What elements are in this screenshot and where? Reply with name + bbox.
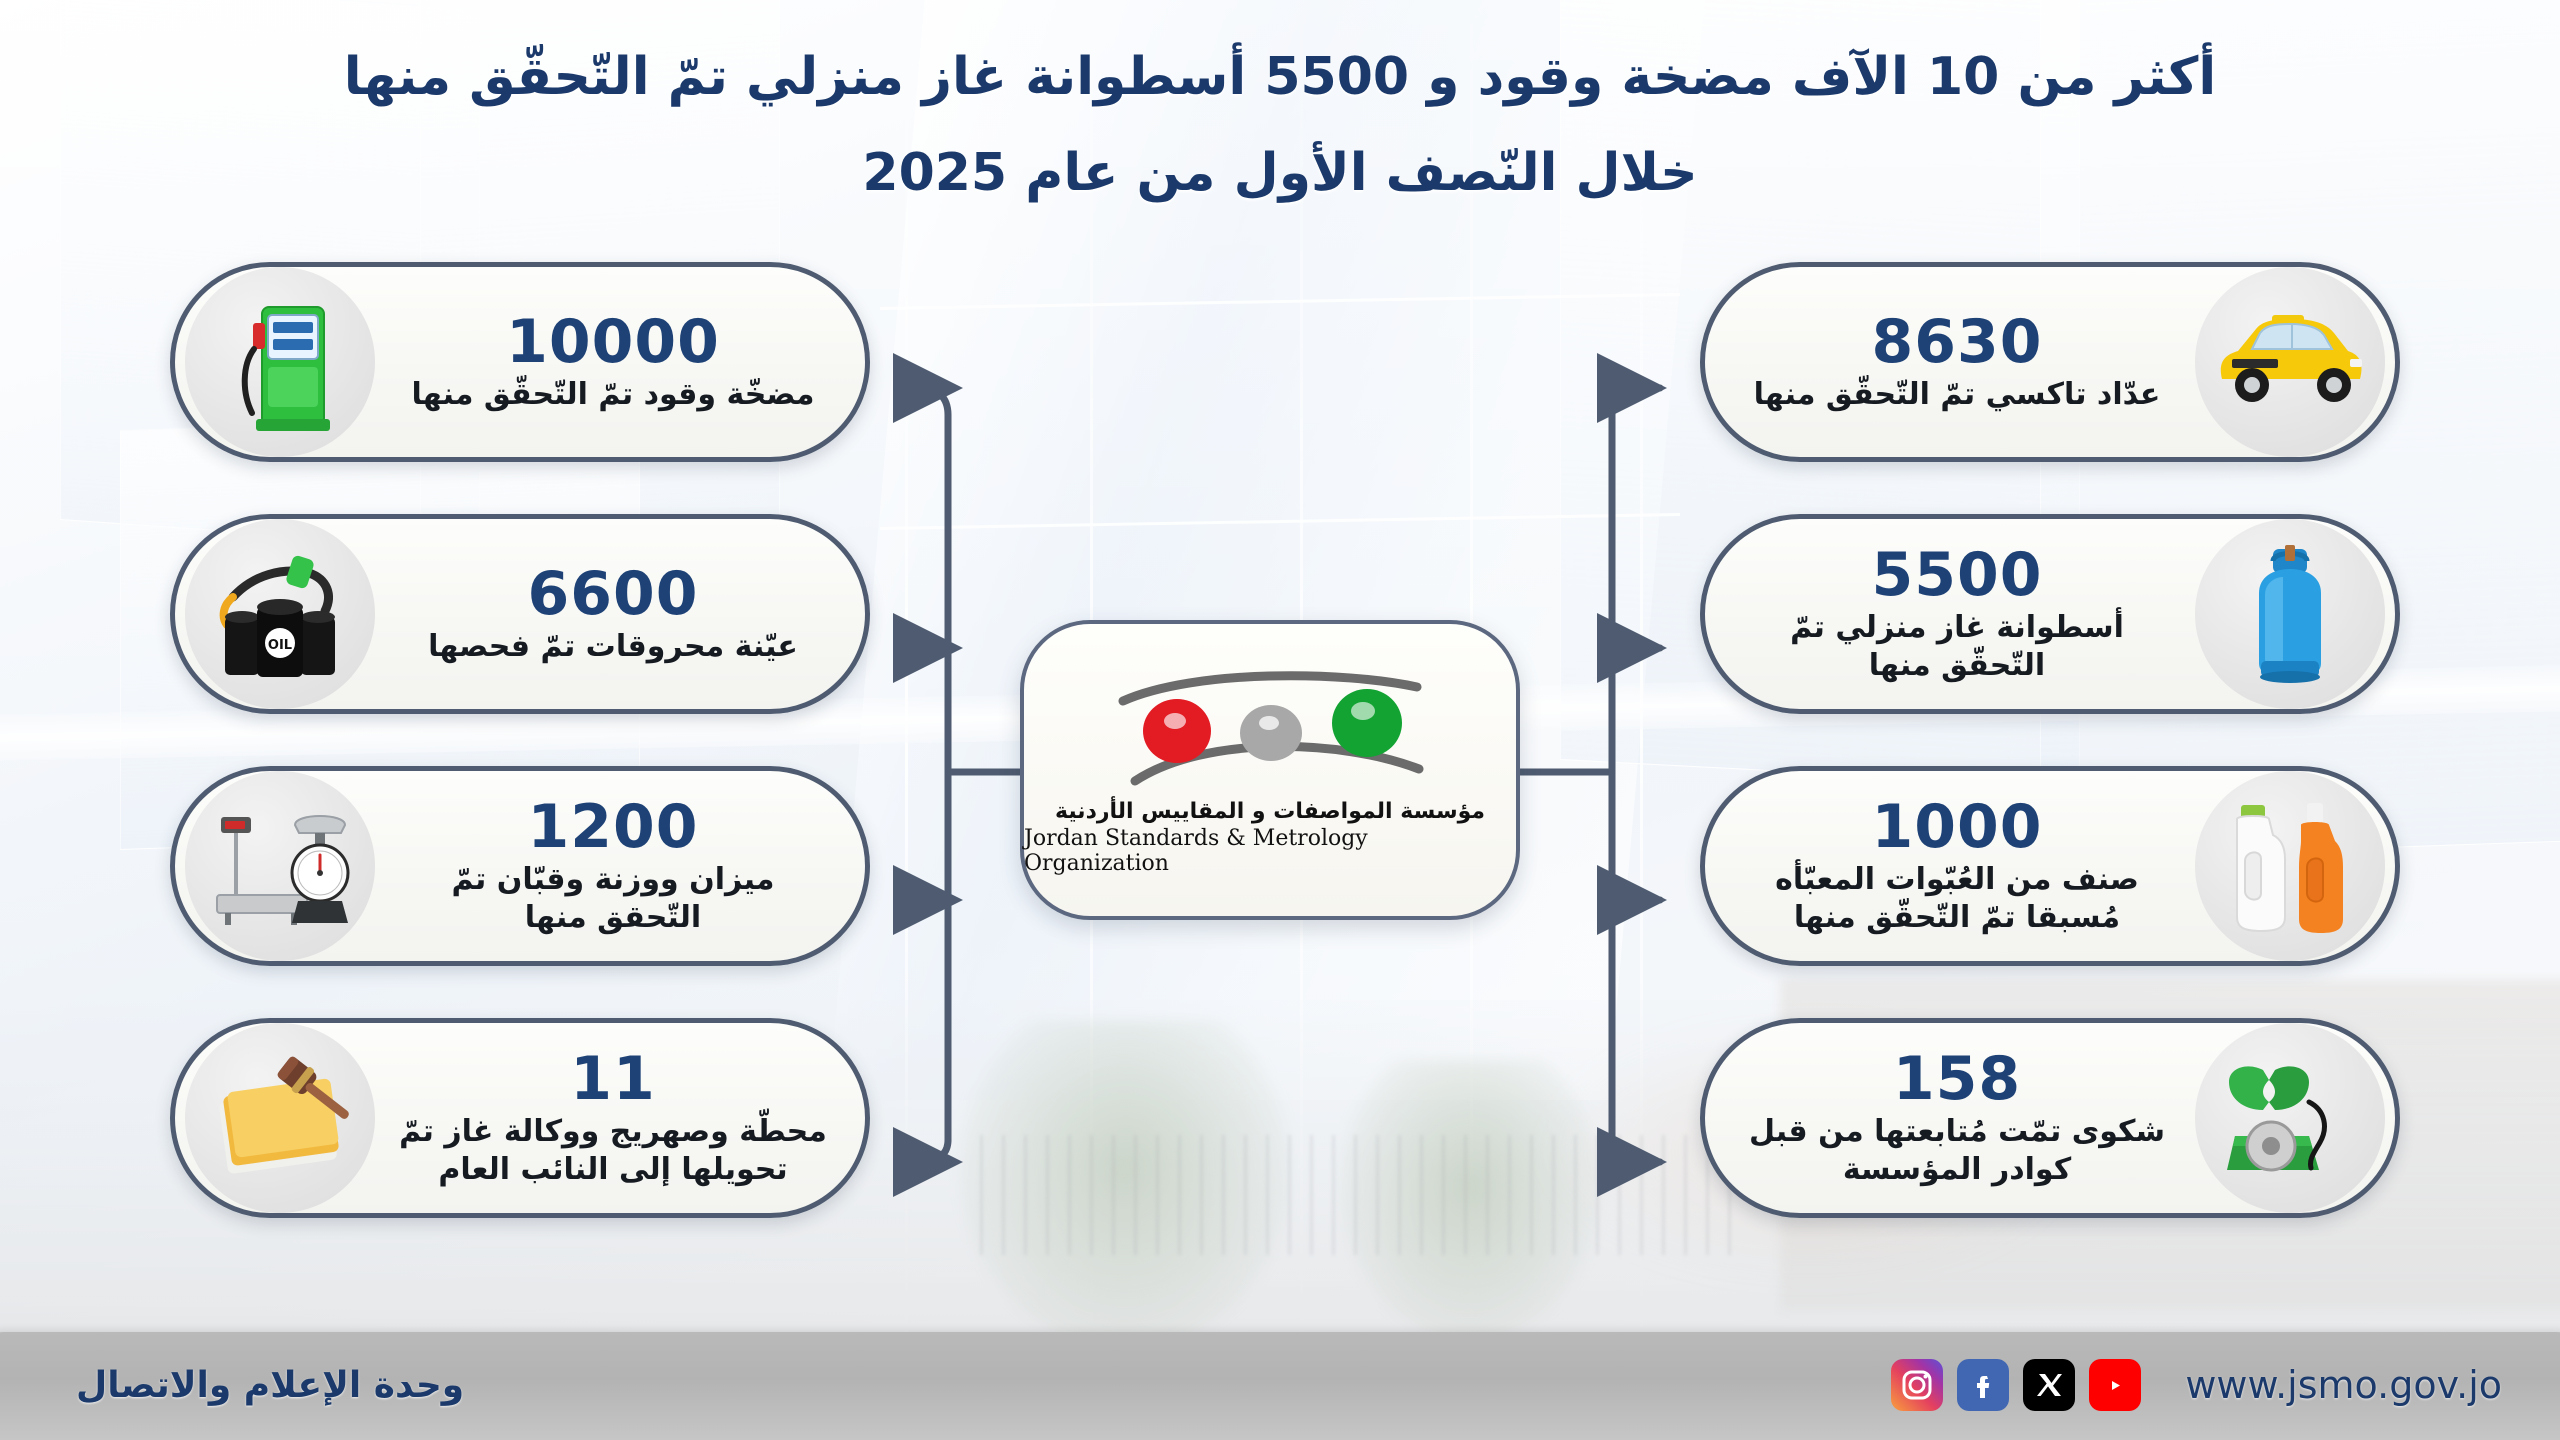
title-line-2: خلال النّصف الأول من عام 2025 (0, 140, 2560, 206)
stat-label: عدّاد تاكسي تمّ التّحقّق منها (1741, 376, 2173, 414)
stat-card-scales[interactable]: 1200 ميزان ووزنة وقبّان تمّ التّحقق منها (170, 766, 870, 966)
stat-label: محطّة وصهريج ووكالة غاز تمّ تحويلها إلى … (397, 1113, 829, 1189)
weighing-scale-icon (185, 771, 375, 961)
stat-card-complaints[interactable]: 158 شكوى تمّت مُتابعتها من قبل كوادر الم… (1700, 1018, 2400, 1218)
stat-number: 1000 (1741, 795, 2173, 859)
packaged-bottles-icon (2195, 771, 2385, 961)
stat-card-fuel-pumps[interactable]: 10000 مضخّة وقود تمّ التّحقّق منها (170, 262, 870, 462)
youtube-icon[interactable] (2089, 1359, 2141, 1411)
stat-card-body: 8630 عدّاد تاكسي تمّ التّحقّق منها (1719, 310, 2195, 414)
stat-card-gas-cylinders[interactable]: 5500 أسطوانة غاز منزلي تمّ التّحقّق منها (1700, 514, 2400, 714)
logo-name-arabic: مؤسسة المواصفات و المقاييس الأردنية (1055, 799, 1485, 824)
stat-card-body: 1200 ميزان ووزنة وقبّان تمّ التّحقق منها (375, 795, 851, 937)
stat-label: عيّنة محروقات تمّ فحصها (397, 628, 829, 666)
taxi-icon (2195, 267, 2385, 457)
stat-number: 10000 (397, 310, 829, 374)
footer: www.jsmo.gov.jo وحدة الإعلام والاتصال (0, 1330, 2560, 1440)
stat-number: 5500 (1741, 543, 2173, 607)
stat-label: شكوى تمّت مُتابعتها من قبل كوادر المؤسسة (1741, 1113, 2173, 1189)
right-card-column: 8630 عدّاد تاكسي تمّ التّحقّق منها 5500 … (1700, 262, 2400, 1218)
social-links: www.jsmo.gov.jo (1891, 1359, 2502, 1411)
organization-logo-card: مؤسسة المواصفات و المقاييس الأردنية Jord… (1020, 620, 1520, 920)
stat-number: 158 (1741, 1047, 2173, 1111)
media-unit-label: وحدة الإعلام والاتصال (76, 1365, 464, 1406)
logo-dot-grey (1240, 705, 1302, 761)
stat-card-referred-to-prosecutor[interactable]: 11 محطّة وصهريج ووكالة غاز تمّ تحويلها إ… (170, 1018, 870, 1218)
stat-card-body: 5500 أسطوانة غاز منزلي تمّ التّحقّق منها (1719, 543, 2195, 685)
instagram-icon[interactable] (1891, 1359, 1943, 1411)
stat-label: ميزان ووزنة وقبّان تمّ التّحقق منها (397, 861, 829, 937)
stat-number: 8630 (1741, 310, 2173, 374)
stat-card-fuel-samples[interactable]: OIL 6600 عيّنة محروقات تمّ فحصها (170, 514, 870, 714)
stat-number: 1200 (397, 795, 829, 859)
stat-number: 6600 (397, 562, 829, 626)
oil-barrels-nozzle-icon: OIL (185, 519, 375, 709)
fuel-dispenser-icon (185, 267, 375, 457)
gas-cylinder-icon (2195, 519, 2385, 709)
stat-number: 11 (397, 1047, 829, 1111)
svg-text:OIL: OIL (268, 638, 292, 653)
logo-name-english: Jordan Standards & Metrology Organizatio… (1024, 826, 1516, 876)
logo-dot-green (1332, 689, 1402, 757)
stat-card-body: 6600 عيّنة محروقات تمّ فحصها (375, 562, 851, 666)
facebook-icon[interactable] (1957, 1359, 2009, 1411)
stat-label: أسطوانة غاز منزلي تمّ التّحقّق منها (1741, 609, 2173, 685)
stat-card-taxi-meters[interactable]: 8630 عدّاد تاكسي تمّ التّحقّق منها (1700, 262, 2400, 462)
stat-card-body: 11 محطّة وصهريج ووكالة غاز تمّ تحويلها إ… (375, 1047, 851, 1189)
stat-card-prepackaged-goods[interactable]: 1000 صنف من العُبّوات المعبّأه مُسبقا تم… (1700, 766, 2400, 966)
x-twitter-icon[interactable] (2023, 1359, 2075, 1411)
stat-card-body: 1000 صنف من العُبّوات المعبّأه مُسبقا تم… (1719, 795, 2195, 937)
gavel-file-icon (185, 1023, 375, 1213)
stat-label: صنف من العُبّوات المعبّأه مُسبقا تمّ الت… (1741, 861, 2173, 937)
website-url[interactable]: www.jsmo.gov.jo (2185, 1363, 2502, 1407)
stat-label: مضخّة وقود تمّ التّحقّق منها (397, 376, 829, 414)
stat-card-body: 158 شكوى تمّت مُتابعتها من قبل كوادر الم… (1719, 1047, 2195, 1189)
stat-card-body: 10000 مضخّة وقود تمّ التّحقّق منها (375, 310, 851, 414)
page-title: أكثر من 10 الآف مضخة وقود و 5500 أسطوانة… (0, 44, 2560, 206)
logo-dot-red (1143, 699, 1211, 763)
telephone-icon (2195, 1023, 2385, 1213)
left-card-column: 10000 مضخّة وقود تمّ التّحقّق منها OIL (170, 262, 870, 1218)
title-line-1: أكثر من 10 الآف مضخة وقود و 5500 أسطوانة… (0, 44, 2560, 110)
jsmo-logo-mark (1105, 665, 1435, 795)
